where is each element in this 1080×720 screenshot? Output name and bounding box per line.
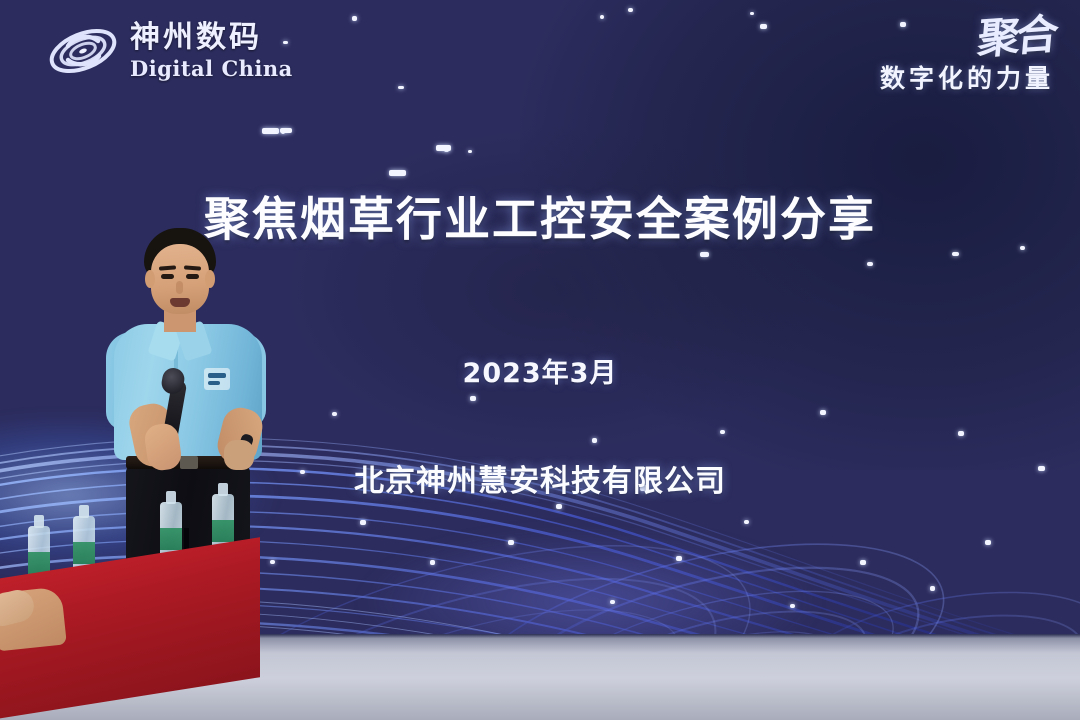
bottle-label [160,528,182,550]
light-particle [676,556,682,561]
light-particle [468,150,472,153]
light-particle [952,252,959,256]
light-particle [958,431,964,436]
light-particle [860,560,866,565]
light-particle [930,586,935,591]
speaker-ear-right [205,270,215,288]
event-logo: 聚合 数字化的力量 [880,18,1054,95]
bottle-label [212,520,234,542]
brand-name-cn: 神州数码 [130,23,293,53]
light-particle [720,430,725,434]
light-particle [790,604,795,608]
light-particle [436,145,451,151]
light-particle [820,410,826,415]
digital-china-wordmark: 神州数码 Digital China [130,23,293,79]
brand-name-en: Digital China [130,58,293,79]
light-particle [352,16,357,21]
light-particle [867,262,873,266]
speaker-nose [176,281,183,294]
light-particle [985,540,991,545]
digital-china-logo: 神州数码 Digital China [46,20,293,82]
light-particle [470,396,476,401]
light-particle [556,504,562,509]
light-particle [332,412,337,416]
light-particle [280,128,292,133]
light-particle [700,252,709,257]
speaker-ear-left [145,270,155,288]
bottle-label [73,542,95,564]
speaker-shirt-logo-bar [208,373,226,378]
event-calligraphy: 聚合 [976,15,1056,59]
light-particle [360,520,366,525]
speaker-shirt-logo [204,368,230,390]
light-particle [389,170,406,176]
light-particle [508,540,514,545]
speaker-belt-buckle [180,456,198,469]
light-particle [750,12,754,15]
digital-china-swirl-icon [46,20,120,82]
speaker-hand-right [224,440,254,470]
light-particle [262,128,279,134]
light-particle [744,520,749,524]
light-particle [398,86,404,89]
presentation-photo: 神州数码 Digital China 聚合 数字化的力量 聚焦烟草行业工控安全案… [0,0,1080,720]
light-particle [600,15,604,19]
light-particle [760,24,767,29]
speaker-mouth [170,298,190,307]
light-particle [628,8,633,12]
light-particle [592,438,597,443]
light-particle [430,560,435,565]
speaker-eye-left [161,274,174,279]
speaker-eye-right [186,274,199,279]
event-tagline: 数字化的力量 [880,59,1054,95]
speaker-shirt-logo-bar2 [208,381,220,385]
light-particle [610,600,615,604]
